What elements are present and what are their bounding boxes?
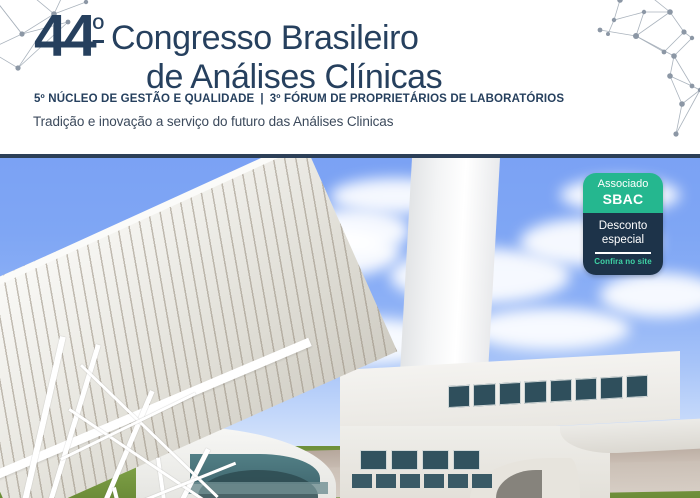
sbac-discount-badge[interactable]: Associado SBAC Desconto especial Confira… (583, 173, 663, 275)
tower-structure (400, 158, 500, 380)
badge-sbac-label: SBAC (583, 191, 663, 207)
banner-header: 44ºCongresso Brasileiro de Análises Clín… (0, 0, 700, 154)
badge-discount-line-2: especial (583, 233, 663, 247)
edition-ordinal: º (93, 11, 104, 46)
page-title: 44ºCongresso Brasileiro de Análises Clín… (34, 8, 654, 97)
subtitle-separator: | (254, 93, 269, 105)
cloud-shape (470, 308, 630, 350)
badge-discount-line-1: Desconto (583, 219, 663, 233)
subtitle-row: 5º NÚCLEO DE GESTÃO E QUALIDADE|3º FÓRUM… (34, 93, 564, 105)
badge-associado-label: Associado (583, 178, 663, 191)
badge-cta-link[interactable]: Confira no site (583, 257, 663, 267)
edition-number: 44 (34, 3, 94, 69)
subtitle-nucleo: 5º NÚCLEO DE GESTÃO E QUALIDADE (34, 93, 254, 105)
tagline: Tradição e inovação a serviço do futuro … (33, 114, 393, 129)
window-row (360, 450, 480, 470)
title-line-2: de Análises Clínicas (34, 57, 654, 97)
title-line-1-text: Congresso Brasileiro (111, 19, 419, 57)
badge-top-section: Associado SBAC (583, 173, 663, 213)
title-line-1: 44ºCongresso Brasileiro (34, 8, 654, 59)
badge-divider (595, 252, 651, 254)
promo-banner-page: 44ºCongresso Brasileiro de Análises Clín… (0, 0, 700, 498)
subtitle-forum: 3º FÓRUM DE PROPRIETÁRIOS DE LABORATÓRIO… (270, 93, 564, 105)
badge-bottom-section: Desconto especial Confira no site (583, 213, 663, 275)
window-row (352, 474, 492, 488)
